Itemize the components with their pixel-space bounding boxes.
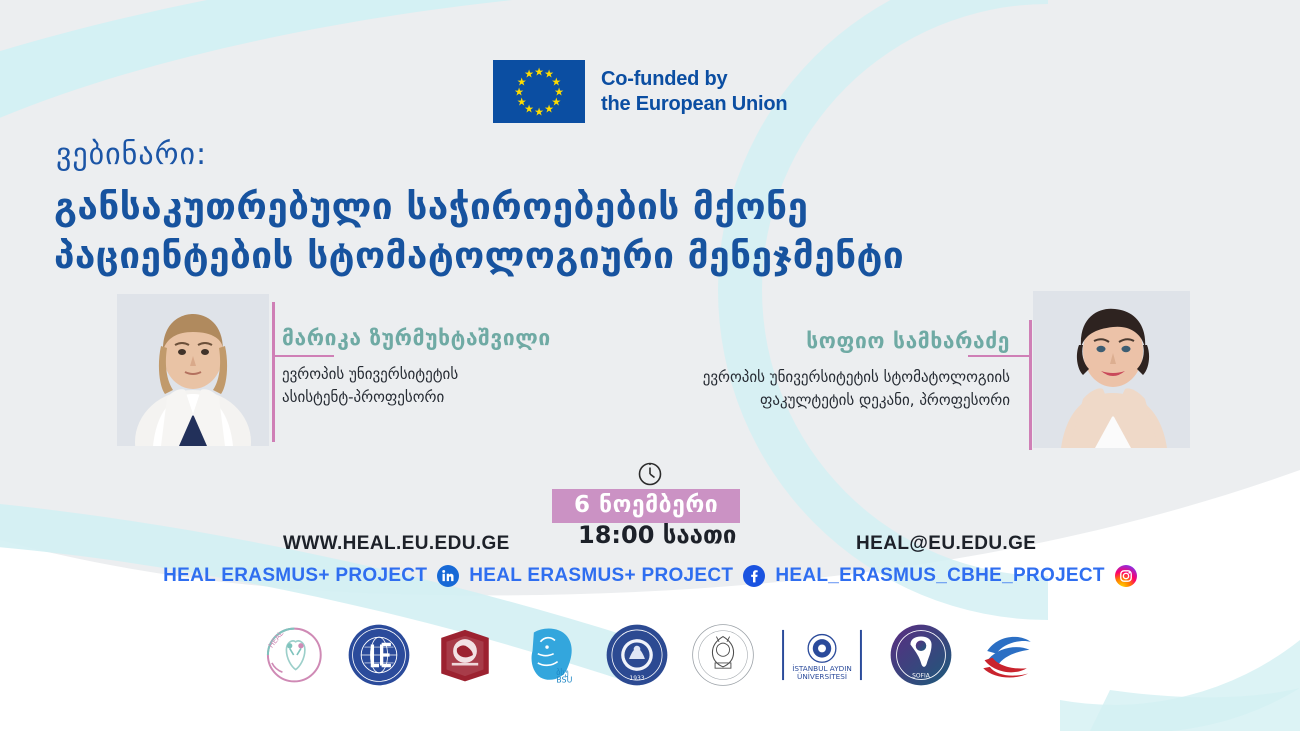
social-link-instagram-label[interactable]: HEAL_ERASMUS_CBHE_PROJECT xyxy=(775,565,1105,587)
partner-logos-row: HEAL ბსუ BSU 1933 xyxy=(0,612,1300,698)
social-link-linkedin-label[interactable]: HEAL ERASMUS+ PROJECT xyxy=(163,565,427,587)
speaker-role-2: ევროპის უნივერსიტეტის სტომატოლოგიის ფაკუ… xyxy=(703,366,1010,411)
event-time: 18:00 საათი xyxy=(578,521,736,549)
event-date-badge: 6 ნოემბერი xyxy=(552,489,740,523)
social-links-row: HEAL ERASMUS+ PROJECT HEAL ERASMUS+ PROJ… xyxy=(0,565,1300,587)
facebook-icon[interactable] xyxy=(743,565,765,587)
clock-icon xyxy=(637,461,663,491)
eu-funding-text: Co-funded by the European Union xyxy=(601,67,787,117)
european-union-flag: ★★★★★★★★★★★★ xyxy=(493,60,585,123)
tbilisi-state-medical-university-logo xyxy=(432,622,498,688)
jagiellonian-university-logo xyxy=(690,622,756,688)
eu-flag-star: ★ xyxy=(534,66,544,77)
speaker-accent-line-left-vertical xyxy=(272,302,275,442)
batumi-shota-rustaveli-state-university-logo: ბსუ BSU xyxy=(518,622,584,688)
speaker-role-2-line1: ევროპის უნივერსიტეტის სტომატოლოგიის xyxy=(703,366,1010,389)
akaki-tsereteli-state-university-logo: 1933 xyxy=(604,622,670,688)
speaker-role-1-line2: ასისტენტ-პროფესორი xyxy=(282,386,458,409)
email-text[interactable]: HEAL@EU.EDU.GE xyxy=(856,533,1036,555)
speaker-accent-line-right-vertical xyxy=(1029,320,1032,450)
website-text[interactable]: WWW.HEAL.EU.EDU.GE xyxy=(283,533,510,555)
social-link-facebook-label[interactable]: HEAL ERASMUS+ PROJECT xyxy=(469,565,733,587)
speaker-photo-sofio-samkharadze xyxy=(1033,291,1190,448)
speaker-name-1: მარიკა ზურმუხტაშვილი xyxy=(282,326,551,350)
speaker-role-1-line1: ევროპის უნივერსიტეტის xyxy=(282,363,458,386)
page-title: განსაკუთრებული საჭიროებების მქონე პაციენ… xyxy=(54,183,904,281)
linkedin-icon[interactable] xyxy=(437,565,459,587)
eu-flag-star: ★ xyxy=(534,106,544,117)
speaker-role-1: ევროპის უნივერსიტეტის ასისტენტ-პროფესორი xyxy=(282,363,458,408)
speaker-name-2: სოფიო სამხარაძე xyxy=(806,329,1010,353)
page-title-line2: პაციენტების სტომატოლოგიური მენეჯმენტი xyxy=(54,232,904,281)
partner-swoosh-logo xyxy=(974,622,1040,688)
svg-text:ÜNİVERSİTESİ: ÜNİVERSİTESİ xyxy=(797,672,847,681)
eu-funding-logo: ★★★★★★★★★★★★ Co-funded by the European U… xyxy=(493,60,787,123)
eu-funding-line1: Co-funded by xyxy=(601,67,787,92)
speaker-photo-marika-zurmukhtashvili xyxy=(117,294,269,446)
svg-text:BSU: BSU xyxy=(556,676,572,685)
istanbul-aydin-universitesi-logo: İSTANBUL AYDIN ÜNİVERSİTESİ xyxy=(776,622,868,688)
webinar-kicker: ვებინარი: xyxy=(56,137,207,172)
instagram-icon[interactable] xyxy=(1115,565,1137,587)
faculty-of-dental-medicine-sofia-logo: SOFIA xyxy=(888,622,954,688)
heal-project-logo: HEAL xyxy=(260,622,326,688)
svg-text:1933: 1933 xyxy=(629,675,644,682)
eu-funding-line2: the European Union xyxy=(601,92,787,117)
european-university-logo xyxy=(346,622,412,688)
speaker-accent-line-right-horizontal xyxy=(968,355,1030,357)
page-title-line1: განსაკუთრებული საჭიროებების მქონე xyxy=(54,183,904,232)
speaker-accent-line-left-horizontal xyxy=(272,355,334,357)
svg-text:SOFIA: SOFIA xyxy=(912,672,931,679)
speaker-role-2-line2: ფაკულტეტის დეკანი, პროფესორი xyxy=(703,389,1010,412)
eu-flag-star: ★ xyxy=(544,103,554,114)
eu-flag-star: ★ xyxy=(524,69,534,80)
